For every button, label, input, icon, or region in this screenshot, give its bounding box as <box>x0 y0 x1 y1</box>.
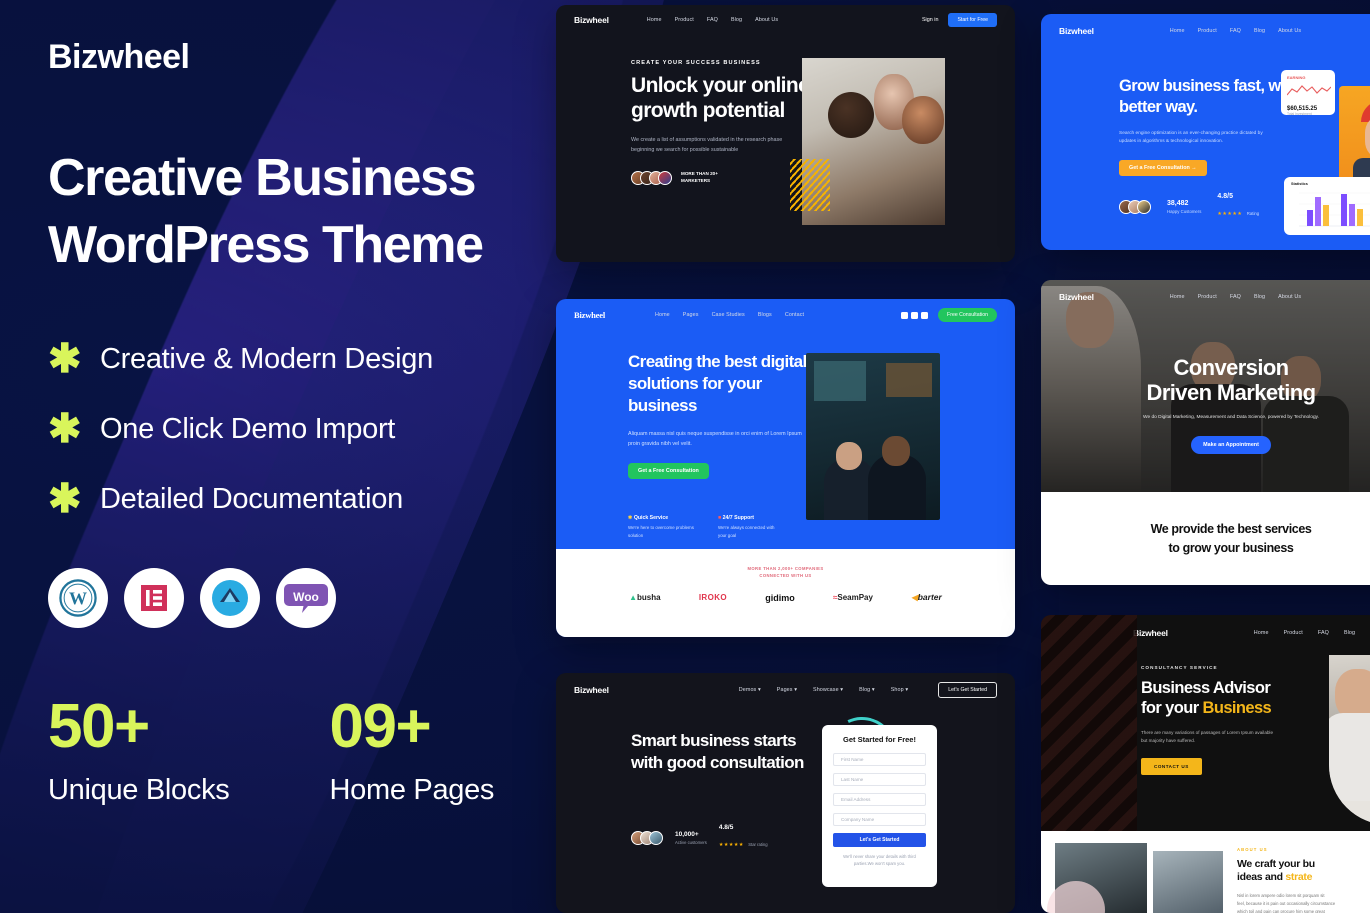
first-name-field[interactable]: First Name <box>833 753 926 766</box>
form-submit-button[interactable]: Let's Get Started <box>833 833 926 847</box>
partners-bar: MORE THAN 2,000+ COMPANIES CONNECTED WIT… <box>556 549 1015 637</box>
chevron-down-icon: ▾ <box>905 687 908 693</box>
feature-quick-service: ✱ Quick Service We're here to overcome p… <box>628 515 694 539</box>
about-heading: We craft your bu ideas and strate <box>1237 858 1370 885</box>
feature-list: ✱ Creative & Modern Design ✱ One Click D… <box>48 324 556 534</box>
svg-text:W: W <box>69 589 87 609</box>
statistics-card: Statistics <box>1284 177 1370 235</box>
stats-row: 10,000+ Active customers 4.8/5 ★★★★★ Sta… <box>631 824 806 851</box>
feature-label: Detailed Documentation <box>100 483 403 516</box>
nav-links: Home Product FAQ Blog About Us <box>1170 28 1301 34</box>
nav-item-blog[interactable]: Blog ▾ <box>859 687 875 693</box>
avatar <box>649 831 663 845</box>
nav-item-shop[interactable]: Shop ▾ <box>891 687 908 693</box>
envato-icon <box>200 568 260 628</box>
nav-item-blogs[interactable]: Blogs <box>758 312 772 318</box>
hero-eyebrow: CREATE YOUR SUCCESS BUSINESS <box>631 60 811 66</box>
nav-item-about-us[interactable]: About Us <box>1278 294 1301 300</box>
nav-links: Home Pages Case Studies Blogs Contact <box>655 312 804 318</box>
nav-item-faq[interactable]: FAQ <box>1318 630 1329 636</box>
nav-item-case-studies[interactable]: Case Studies <box>712 312 745 318</box>
form-note-line-1: We'll never share your details with thir… <box>843 854 916 859</box>
nav-actions: Free Consultation <box>901 308 997 322</box>
hero-heading-line-1: Business Advisor <box>1141 678 1311 698</box>
partner-logo-iroko: IROKO <box>699 593 727 602</box>
about-heading-line-2: ideas and <box>1237 871 1285 883</box>
stat-label: Star rating <box>748 842 767 847</box>
list-item: ✱ Creative & Modern Design <box>48 324 556 394</box>
page-title: Creative Business WordPress Theme <box>48 145 556 278</box>
partner-logo-barter: ◀barter <box>911 592 942 603</box>
nav-actions: Sign in Start for Free <box>922 13 997 27</box>
list-item: ✱ One Click Demo Import <box>48 394 556 464</box>
social-proof: MORE THAN 20+ MARKETERS <box>631 171 811 185</box>
site-nav: Bizwheel Home Product FAQ Blog About Us … <box>556 5 1015 35</box>
about-image-2 <box>1153 851 1223 913</box>
hero-heading-line-2: Driven Marketing <box>1041 381 1370 406</box>
hero-heading: Creating the best digital solutions for … <box>628 351 818 417</box>
star-rating-icon: ★★★★★ <box>719 842 744 848</box>
brand-title: Bizwheel <box>48 38 556 77</box>
signup-form-card: Get Started for Free! First Name Last Na… <box>822 725 937 887</box>
nav-item-pages[interactable]: Pages ▾ <box>777 687 797 693</box>
headline-line-1: Creative Business <box>48 149 475 207</box>
about-eyebrow: ABOUT US <box>1237 847 1370 852</box>
chevron-down-icon: ▾ <box>872 687 875 693</box>
avatar <box>1137 200 1151 214</box>
nav-item-demos[interactable]: Demos ▾ <box>739 687 761 693</box>
nav-item-product[interactable]: Product <box>1284 630 1303 636</box>
site-nav: Bizwheel Demos ▾ Pages ▾ Showcase ▾ Blog… <box>556 673 1015 707</box>
social-proof-line-1: MORE THAN 20+ <box>681 171 718 176</box>
nav-item-home[interactable]: Home <box>655 312 670 318</box>
partner-logo-seampay: ≈SeamPay <box>833 593 873 602</box>
make-appointment-button[interactable]: Make an Appointment <box>1191 436 1271 454</box>
earnings-sparkline <box>1287 82 1331 99</box>
hero-heading: Conversion Driven Marketing <box>1041 356 1370 405</box>
hero-body: We create a list of assumptions validate… <box>631 136 799 155</box>
support-icon: ■ <box>718 515 721 521</box>
promo-banner: Bizwheel Creative Business WordPress The… <box>0 0 1370 913</box>
hero-copy: CREATE YOUR SUCCESS BUSINESS Unlock your… <box>631 60 811 185</box>
social-proof-line-2: MARKETERS <box>681 178 710 183</box>
hero-copy: Smart business starts with good consulta… <box>631 730 806 851</box>
site-logo: Bizwheel <box>574 685 609 695</box>
earnings-card: EARNING $60,515.25 Total Investment <box>1281 70 1335 115</box>
stat-value: 50+ <box>48 696 229 758</box>
start-for-free-button[interactable]: Start for Free <box>948 13 997 27</box>
feature-body: We're here to overcome problems solution <box>628 524 694 539</box>
partners-line-1: MORE THAN 2,000+ COMPANIES <box>747 566 823 571</box>
screenshot-card-business-advisor[interactable]: Bizwheel Home Product FAQ Blog About Us … <box>1041 615 1370 913</box>
hero-heading-line-2: for your <box>1141 699 1203 717</box>
site-nav: Bizwheel Home Product FAQ Blog About Us … <box>1041 280 1370 314</box>
nav-item-pages[interactable]: Pages <box>683 312 699 318</box>
partner-logos: ▲busha IROKO gidimo ≈SeamPay ◀barter <box>556 592 1015 603</box>
services-heading-line-2: to grow your business <box>1151 539 1312 557</box>
nav-actions: Let's Get Started <box>938 682 997 698</box>
hero-body: Aliquam massa nisl quis neque suspendiss… <box>628 430 804 449</box>
nav-item-home[interactable]: Home <box>1170 294 1185 300</box>
social-icons <box>901 312 928 319</box>
feature-title-label: Quick Service <box>634 515 668 521</box>
nav-links: Home Product FAQ Blog About Us <box>1254 630 1370 636</box>
partner-logo-busha: ▲busha <box>629 593 660 602</box>
stat-home-pages: 09+ Home Pages <box>329 696 494 807</box>
hero-copy: Grow business fast, with better way. Sea… <box>1119 76 1304 220</box>
nav-item-home[interactable]: Home <box>647 17 662 23</box>
feature-body: We're always connected with your goal <box>718 524 784 539</box>
chevron-down-icon: ▾ <box>758 687 761 693</box>
nav-item-faq[interactable]: FAQ <box>707 17 718 23</box>
form-title: Get Started for Free! <box>833 735 926 744</box>
company-name-field[interactable]: Company Name <box>833 813 926 826</box>
hero-heading-accent: Business <box>1203 699 1272 717</box>
hero-eyebrow: CONSULTANCY SERVICE <box>1141 665 1311 670</box>
decorative-pattern <box>1041 615 1137 831</box>
nav-item-product[interactable]: Product <box>1198 28 1217 34</box>
feature-row: ✱ Quick Service We're here to overcome p… <box>628 515 818 539</box>
about-section: ABOUT US We craft your bu ideas and stra… <box>1041 831 1370 913</box>
nav-item-contact[interactable]: Contact <box>785 312 804 318</box>
lets-get-started-button[interactable]: Let's Get Started <box>938 682 997 698</box>
stat-label: Home Pages <box>329 774 494 807</box>
instagram-icon[interactable] <box>921 312 928 319</box>
site-logo: Bizwheel <box>574 310 605 320</box>
stat-value: 4.8/5 <box>719 824 768 831</box>
hero-image <box>1329 655 1370 825</box>
chevron-down-icon: ▾ <box>794 687 797 693</box>
site-logo: Bizwheel <box>1133 628 1168 638</box>
headline-line-2: WordPress Theme <box>48 212 556 279</box>
hero-heading: Smart business starts with good consulta… <box>631 730 806 774</box>
nav-item-faq[interactable]: FAQ <box>1230 294 1241 300</box>
nav-item-faq[interactable]: FAQ <box>1230 28 1241 34</box>
elementor-icon <box>124 568 184 628</box>
social-proof-label: MORE THAN 20+ MARKETERS <box>681 171 718 185</box>
get-free-consultation-button[interactable]: Get a Free Consultation → <box>1119 160 1207 176</box>
hero-copy: Creating the best digital solutions for … <box>628 351 818 539</box>
partners-line-2: CONNECTED WITH US <box>759 573 811 578</box>
about-heading-line-1: We craft your bu <box>1237 858 1370 871</box>
services-section: We provide the best services to grow you… <box>1041 492 1370 585</box>
nav-item-blog[interactable]: Blog <box>1344 630 1355 636</box>
stat-label: Happy Customers <box>1167 209 1201 214</box>
nav-item-about-us[interactable]: About Us <box>755 17 778 23</box>
hero-heading-line-1: Conversion <box>1041 356 1370 381</box>
last-name-field[interactable]: Last Name <box>833 773 926 786</box>
screenshot-card-smart-business[interactable]: Bizwheel Demos ▾ Pages ▾ Showcase ▾ Blog… <box>556 673 1015 913</box>
form-note: We'll never share your details with thir… <box>833 853 926 867</box>
twitter-icon[interactable] <box>911 312 918 319</box>
stats-row: 50+ Unique Blocks 09+ Home Pages <box>48 696 556 807</box>
nav-links: Home Product FAQ Blog About Us <box>1170 294 1301 300</box>
hero-body: There are many variations of passages of… <box>1141 729 1279 745</box>
free-consultation-button[interactable]: Free Consultation <box>938 308 997 322</box>
woocommerce-icon: Woo <box>276 568 336 628</box>
form-note-line-2: parties.We won't spam you. <box>854 861 905 866</box>
get-free-consultation-button[interactable]: Get a Free Consultation <box>628 463 709 479</box>
screenshot-card-digital-solutions[interactable]: Bizwheel Home Pages Case Studies Blogs C… <box>556 299 1015 637</box>
services-heading-line-1: We provide the best services <box>1151 520 1312 538</box>
chevron-down-icon: ▾ <box>840 687 843 693</box>
hero-heading: Grow business fast, with better way. <box>1119 76 1304 118</box>
avatar <box>658 171 672 185</box>
earnings-label: EARNING <box>1287 75 1329 80</box>
site-nav: Bizwheel Home Pages Case Studies Blogs C… <box>556 299 1015 331</box>
svg-text:Woo: Woo <box>293 590 319 604</box>
feature-label: One Click Demo Import <box>100 413 395 446</box>
about-copy: ABOUT US We craft your bu ideas and stra… <box>1237 847 1370 913</box>
stat-happy-customers: 38,482 Happy Customers <box>1167 200 1201 214</box>
nav-item-blog[interactable]: Blog <box>731 17 742 23</box>
stats-row: 38,482 Happy Customers 4.8/5 ★★★★★ Ratin… <box>1119 193 1304 220</box>
left-info-panel: Bizwheel Creative Business WordPress The… <box>0 0 556 913</box>
stat-unique-blocks: 50+ Unique Blocks <box>48 696 229 807</box>
partner-logo-gidimo: gidimo <box>765 593 795 603</box>
avatar-group <box>631 171 672 185</box>
button-label: Get a Free Consultation <box>1129 165 1190 171</box>
screenshot-card-grow-business[interactable]: Bizwheel Home Product FAQ Blog About Us … <box>1041 14 1370 250</box>
nav-item-home[interactable]: Home <box>1170 28 1185 34</box>
screenshot-card-unlock-growth[interactable]: Bizwheel Home Product FAQ Blog About Us … <box>556 5 1015 262</box>
nav-item-showcase[interactable]: Showcase ▾ <box>813 687 843 693</box>
earnings-sub: Total Investment <box>1287 112 1329 116</box>
wordpress-icon: W <box>48 568 108 628</box>
feature-support: ■ 24/7 Support We're always connected wi… <box>718 515 784 539</box>
list-item: ✱ Detailed Documentation <box>48 464 556 534</box>
site-logo: Bizwheel <box>1059 26 1094 36</box>
hero-body: Search engine optimization is an ever-ch… <box>1119 130 1279 147</box>
site-logo: Bizwheel <box>1059 292 1094 302</box>
nav-item-blog[interactable]: Blog <box>1254 28 1265 34</box>
avatar-group <box>1119 200 1151 214</box>
services-heading: We provide the best services to grow you… <box>1151 520 1312 556</box>
screenshot-card-conversion-marketing[interactable]: Bizwheel Home Product FAQ Blog About Us … <box>1041 280 1370 585</box>
hero-copy: Conversion Driven Marketing We do Digita… <box>1041 356 1370 454</box>
nav-item-home[interactable]: Home <box>1254 630 1269 636</box>
site-logo: Bizwheel <box>574 15 609 25</box>
signin-link[interactable]: Sign in <box>922 17 938 23</box>
email-field[interactable]: Email Address <box>833 793 926 806</box>
nav-item-product[interactable]: Product <box>1198 294 1217 300</box>
stat-active-customers: 10,000+ Active customers <box>675 831 707 845</box>
feature-title: ✱ Quick Service <box>628 515 694 521</box>
hero-body: We do Digital Marketing, Measurement and… <box>1141 414 1321 422</box>
site-nav: Bizwheel Home Product FAQ Blog About Us … <box>1041 14 1370 48</box>
stat-label: Unique Blocks <box>48 774 229 807</box>
nav-item-blog[interactable]: Blog <box>1254 294 1265 300</box>
contact-us-button[interactable]: CONTACT US <box>1141 758 1202 775</box>
hero-heading: Business Advisor for your Business <box>1141 678 1311 719</box>
bar-chart <box>1291 188 1370 232</box>
asterisk-icon: ✱ <box>48 409 78 449</box>
hero-image <box>806 353 940 520</box>
feature-title-label: 24/7 Support <box>723 515 754 521</box>
hero-image <box>802 58 945 225</box>
feature-title: ■ 24/7 Support <box>718 515 784 521</box>
spark-icon: ✱ <box>628 515 632 521</box>
stat-value: 10,000+ <box>675 831 707 838</box>
facebook-icon[interactable] <box>901 312 908 319</box>
chart-title: Statistics <box>1291 182 1370 186</box>
asterisk-icon: ✱ <box>48 479 78 519</box>
about-heading-accent: strate <box>1285 871 1312 883</box>
avatar-group <box>631 831 663 845</box>
hero-copy: CONSULTANCY SERVICE Business Advisor for… <box>1141 665 1311 775</box>
stat-rating: 4.8/5 ★★★★★ Rating <box>1217 193 1259 220</box>
stat-label: Rating <box>1247 211 1259 216</box>
asterisk-icon: ✱ <box>48 339 78 379</box>
nav-item-product[interactable]: Product <box>675 17 694 23</box>
star-rating-icon: ★★★★★ <box>1217 211 1242 217</box>
stat-label: Active customers <box>675 840 707 845</box>
plugin-badges: W <box>48 568 556 628</box>
stat-value: 38,482 <box>1167 200 1201 207</box>
nav-links: Demos ▾ Pages ▾ Showcase ▾ Blog ▾ Shop ▾ <box>739 687 908 693</box>
hero-heading: Unlock your online growth potential <box>631 74 811 123</box>
nav-links: Home Product FAQ Blog About Us <box>647 17 778 23</box>
about-body: Nisl in lorem ampere odio lorem sit porq… <box>1237 892 1370 913</box>
stat-value: 09+ <box>329 696 494 758</box>
stat-star-rating: 4.8/5 ★★★★★ Star rating <box>719 824 768 851</box>
partners-caption: MORE THAN 2,000+ COMPANIES CONNECTED WIT… <box>556 549 1015 579</box>
feature-label: Creative & Modern Design <box>100 343 433 376</box>
stat-value: 4.8/5 <box>1217 193 1259 200</box>
nav-item-about-us[interactable]: About Us <box>1278 28 1301 34</box>
